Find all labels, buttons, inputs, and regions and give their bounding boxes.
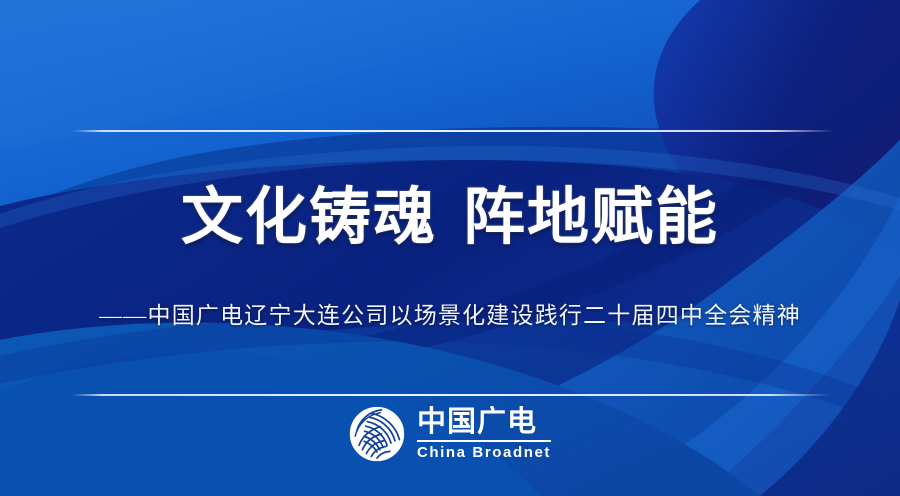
china-broadnet-globe-icon — [349, 406, 405, 462]
divider-line-top — [72, 130, 834, 132]
title-phrase-2: 阵地赋能 — [463, 184, 719, 252]
brand-name-cn: 中国广电 — [417, 407, 551, 437]
brand-wordmark-rule — [417, 440, 551, 442]
title-block: 文化铸魂阵地赋能 — [0, 186, 900, 251]
title-phrase-1: 文化铸魂 — [181, 184, 437, 252]
brand-logo-lockup: 中国广电 China Broadnet — [0, 406, 900, 462]
brand-name-en: China Broadnet — [417, 445, 551, 462]
poster-canvas: 文化铸魂阵地赋能 ——中国广电辽宁大连公司以场景化建设践行二十届四中全会精神 — [0, 0, 900, 496]
page-title: 文化铸魂阵地赋能 — [0, 186, 900, 251]
page-subtitle: ——中国广电辽宁大连公司以场景化建设践行二十届四中全会精神 — [0, 302, 900, 331]
brand-wordmark: 中国广电 China Broadnet — [417, 407, 551, 462]
divider-line-bottom — [72, 394, 830, 396]
